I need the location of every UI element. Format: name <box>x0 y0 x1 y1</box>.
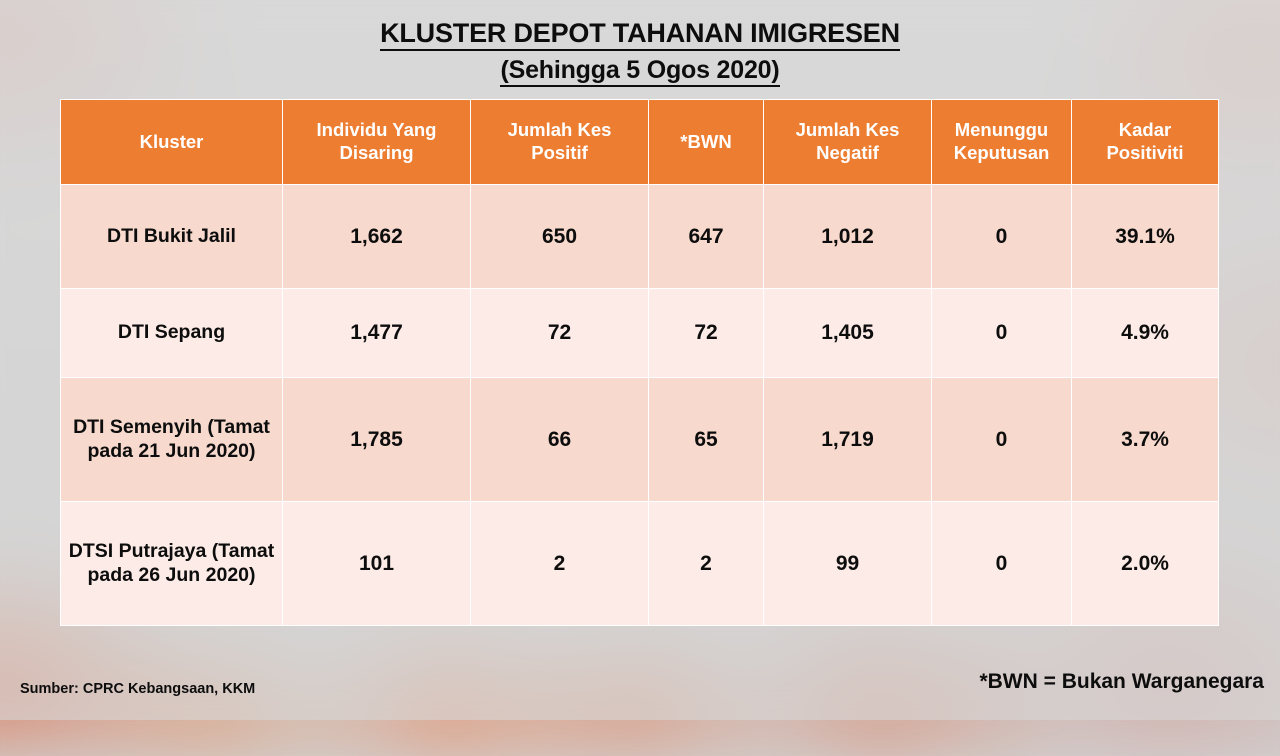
cell-kadar: 3.7% <box>1072 378 1219 502</box>
cell-bwn: 647 <box>649 185 764 289</box>
cell-kadar: 4.9% <box>1072 289 1219 378</box>
cell-disaring: 1,662 <box>283 185 471 289</box>
cell-menunggu: 0 <box>932 378 1072 502</box>
table-row: DTI Semenyih (Tamat pada 21 Jun 2020) 1,… <box>61 378 1219 502</box>
column-header-kes-positif: Jumlah Kes Positif <box>471 100 649 185</box>
cell-kluster: DTI Bukit Jalil <box>61 185 283 289</box>
table-header-row: Kluster Individu Yang Disaring Jumlah Ke… <box>61 100 1219 185</box>
cell-kluster: DTI Semenyih (Tamat pada 21 Jun 2020) <box>61 378 283 502</box>
cell-menunggu: 0 <box>932 185 1072 289</box>
column-header-bwn: *BWN <box>649 100 764 185</box>
cell-kluster: DTI Sepang <box>61 289 283 378</box>
cell-negatif: 1,719 <box>764 378 932 502</box>
column-header-kluster: Kluster <box>61 100 283 185</box>
cluster-table: Kluster Individu Yang Disaring Jumlah Ke… <box>60 99 1219 626</box>
cell-positif: 2 <box>471 502 649 626</box>
cell-kadar: 2.0% <box>1072 502 1219 626</box>
cell-disaring: 101 <box>283 502 471 626</box>
cell-positif: 650 <box>471 185 649 289</box>
cell-bwn: 72 <box>649 289 764 378</box>
cell-negatif: 99 <box>764 502 932 626</box>
column-header-kadar-positiviti: Kadar Positiviti <box>1072 100 1219 185</box>
table-row: DTI Bukit Jalil 1,662 650 647 1,012 0 39… <box>61 185 1219 289</box>
cell-positif: 66 <box>471 378 649 502</box>
column-header-menunggu-keputusan: Menunggu Keputusan <box>932 100 1072 185</box>
source-note: Sumber: CPRC Kebangsaan, KKM <box>20 681 255 697</box>
bwn-legend-note: *BWN = Bukan Warganegara <box>979 670 1264 694</box>
cell-negatif: 1,012 <box>764 185 932 289</box>
column-header-individu-disaring: Individu Yang Disaring <box>283 100 471 185</box>
title-block: KLUSTER DEPOT TAHANAN IMIGRESEN (Sehingg… <box>0 18 1280 87</box>
cell-positif: 72 <box>471 289 649 378</box>
cell-disaring: 1,785 <box>283 378 471 502</box>
page-subtitle: (Sehingga 5 Ogos 2020) <box>500 56 779 87</box>
page-title: KLUSTER DEPOT TAHANAN IMIGRESEN <box>380 18 900 51</box>
cell-negatif: 1,405 <box>764 289 932 378</box>
cell-bwn: 2 <box>649 502 764 626</box>
cell-menunggu: 0 <box>932 289 1072 378</box>
cell-disaring: 1,477 <box>283 289 471 378</box>
cell-kluster: DTSI Putrajaya (Tamat pada 26 Jun 2020) <box>61 502 283 626</box>
column-header-kes-negatif: Jumlah Kes Negatif <box>764 100 932 185</box>
cell-kadar: 39.1% <box>1072 185 1219 289</box>
table-row: DTI Sepang 1,477 72 72 1,405 0 4.9% <box>61 289 1219 378</box>
cell-bwn: 65 <box>649 378 764 502</box>
cell-menunggu: 0 <box>932 502 1072 626</box>
table-row: DTSI Putrajaya (Tamat pada 26 Jun 2020) … <box>61 502 1219 626</box>
